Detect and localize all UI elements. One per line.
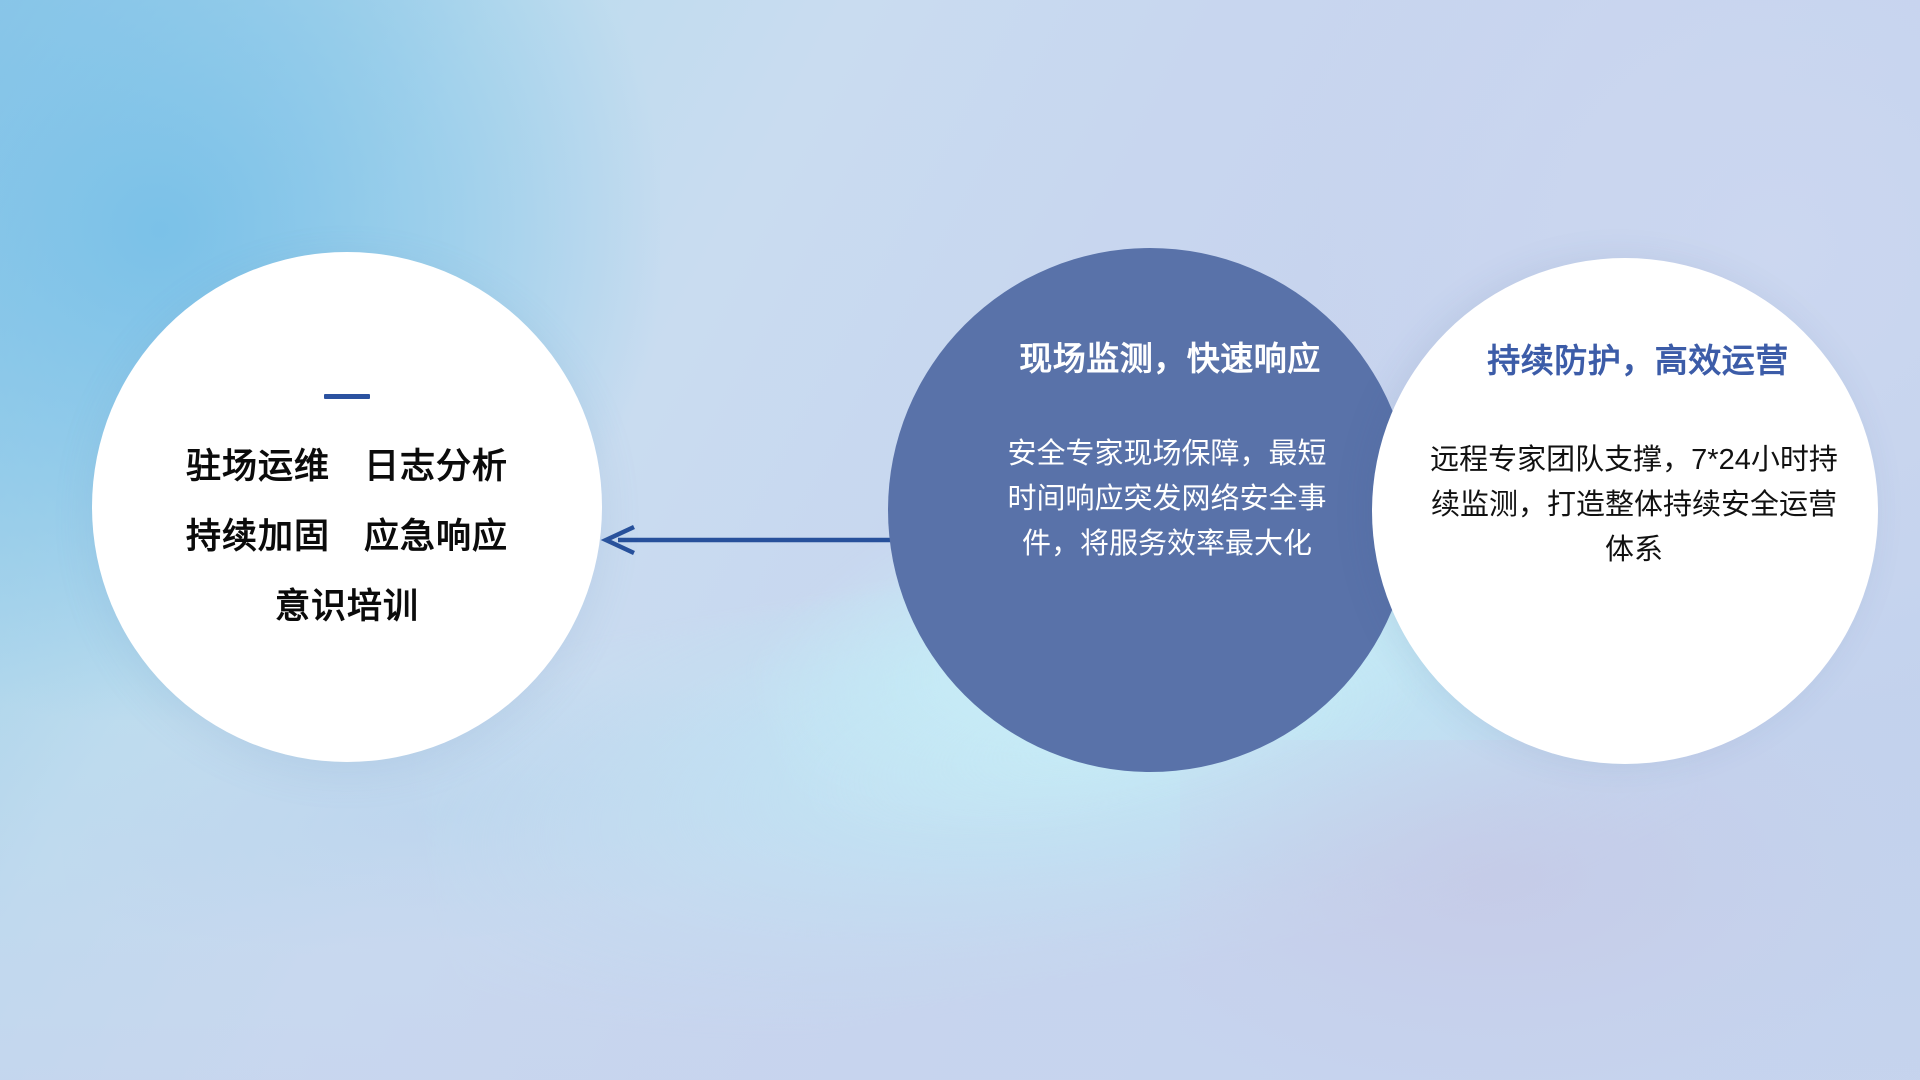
feature-title-operations: 持续防护，高效运营 [1487,334,1789,382]
arrow-left-icon [600,520,900,560]
background-glow-lavender [1180,740,1880,1080]
divider-dash [324,394,370,399]
feature-circle-onsite[interactable]: 现场监测，快速响应 安全专家现场保障，最短时间响应突发网络安全事件，将服务效率最… [888,248,1412,772]
capability-item: 意识培训 [275,589,419,624]
capability-list: 驻场运维 日志分析 持续加固 应急响应 意识培训 [92,449,602,659]
capability-circle-left[interactable]: 驻场运维 日志分析 持续加固 应急响应 意识培训 [92,252,602,762]
capability-row: 意识培训 [92,589,602,624]
capability-item: 应急响应 [364,519,508,554]
capability-item: 日志分析 [364,449,508,484]
capability-row: 驻场运维 日志分析 [92,449,602,484]
feature-body-onsite: 安全专家现场保障，最短时间响应突发网络安全事件，将服务效率最大化 [1006,432,1328,568]
feature-title-onsite: 现场监测，快速响应 [1019,332,1321,380]
capability-row: 持续加固 应急响应 [92,519,602,554]
capability-item: 驻场运维 [186,449,330,484]
capability-item: 持续加固 [186,519,330,554]
feature-circle-operations[interactable]: 持续防护，高效运营 远程专家团队支撑，7*24小时持续监测，打造整体持续安全运营… [1372,258,1878,764]
feature-body-operations: 远程专家团队支撑，7*24小时持续监测，打造整体持续安全运营体系 [1424,438,1844,574]
